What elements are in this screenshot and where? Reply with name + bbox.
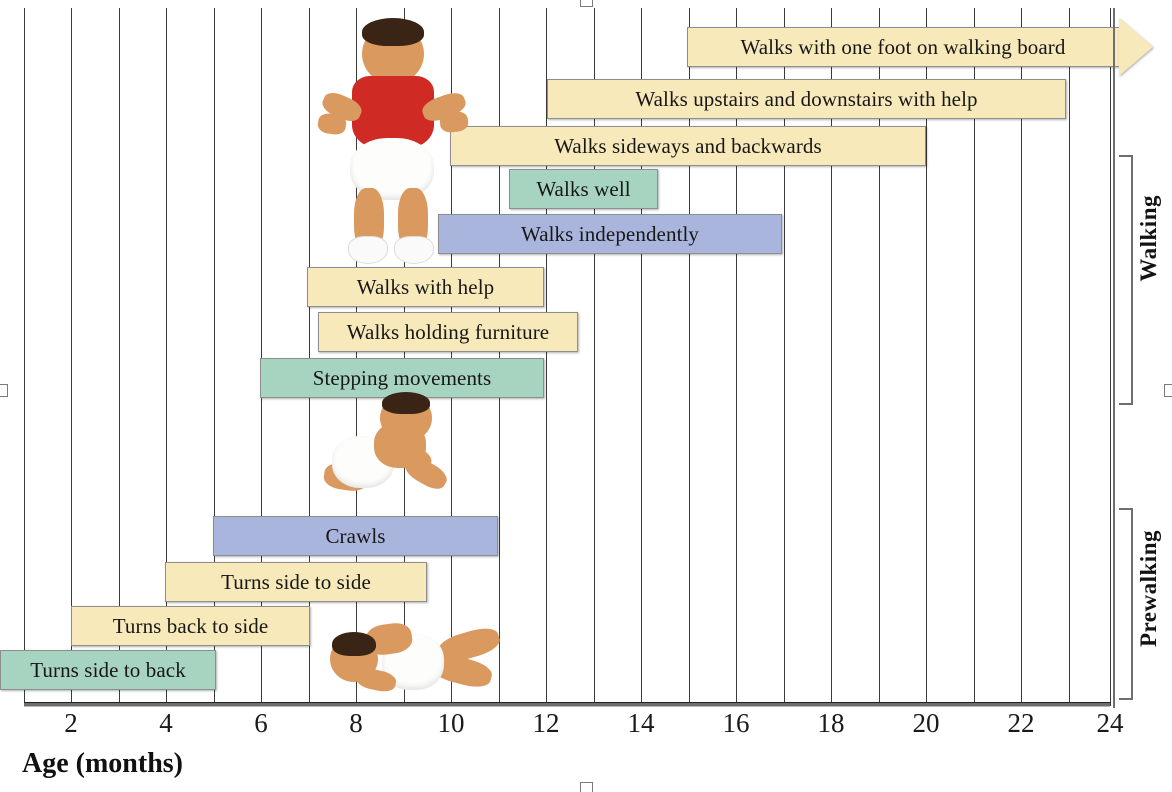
- bar-turns-back-to-side[interactable]: Turns back to side: [71, 606, 310, 646]
- bar-walks-with-help[interactable]: Walks with help: [307, 267, 544, 307]
- x-axis-shadow: [24, 703, 1110, 706]
- gridline: [119, 8, 120, 706]
- x-tick-label: 2: [64, 708, 78, 739]
- bar-walks-upstairs-downstairs[interactable]: Walks upstairs and downstairs with help: [547, 79, 1066, 119]
- bracket-walking: [1119, 155, 1133, 405]
- gridline: [24, 8, 25, 706]
- bracket-label-prewalking: Prewalking: [1136, 530, 1162, 647]
- x-tick-label: 10: [438, 708, 465, 739]
- x-tick-label: 14: [628, 708, 655, 739]
- bracket-label-walking: Walking: [1136, 195, 1162, 282]
- gridline: [451, 8, 452, 706]
- figure-canvas: Turns side to backTurns back to sideTurn…: [0, 0, 1172, 792]
- bar-label: Turns side to side: [221, 570, 371, 595]
- x-tick-label: 8: [349, 708, 363, 739]
- x-tick-label: 18: [818, 708, 845, 739]
- handle-right-middle[interactable]: [1164, 384, 1172, 397]
- x-axis-title: Age (months): [22, 748, 183, 780]
- bar-label: Walks well: [536, 177, 630, 202]
- handle-bottom-center[interactable]: [580, 782, 593, 792]
- gridline: [1110, 8, 1111, 706]
- bar-label: Walks with one foot on walking board: [687, 35, 1153, 60]
- bar-stepping-movements[interactable]: Stepping movements: [260, 358, 544, 398]
- x-tick-label: 20: [913, 708, 940, 739]
- bar-label: Walks sideways and backwards: [554, 134, 822, 159]
- bar-walks-well[interactable]: Walks well: [509, 169, 658, 209]
- bar-label: Walks with help: [357, 275, 494, 300]
- bar-walks-independently[interactable]: Walks independently: [438, 214, 782, 254]
- x-tick-label: 16: [723, 708, 750, 739]
- x-tick-label: 22: [1008, 708, 1035, 739]
- gridline: [1069, 8, 1070, 706]
- bar-turns-side-to-side[interactable]: Turns side to side: [165, 562, 427, 602]
- bar-walks-sideways-backwards[interactable]: Walks sideways and backwards: [450, 126, 926, 166]
- x-tick-label: 12: [533, 708, 560, 739]
- handle-left-middle[interactable]: [0, 384, 8, 397]
- right-frame-line: [1113, 8, 1115, 708]
- x-tick-label: 4: [159, 708, 173, 739]
- bar-turns-side-to-back[interactable]: Turns side to back: [0, 650, 216, 690]
- bar-crawls[interactable]: Crawls: [213, 516, 498, 556]
- gridline: [499, 8, 500, 706]
- bar-label: Walks independently: [521, 222, 699, 247]
- bar-label: Crawls: [325, 524, 385, 549]
- x-tick-label: 24: [1097, 708, 1124, 739]
- x-tick-label: 6: [254, 708, 268, 739]
- handle-top-center[interactable]: [580, 0, 593, 7]
- gridline: [71, 8, 72, 706]
- bar-label: Walks upstairs and downstairs with help: [635, 87, 977, 112]
- bar-label: Turns back to side: [113, 614, 269, 639]
- bracket-prewalking: [1119, 508, 1133, 700]
- bar-label: Stepping movements: [313, 366, 492, 391]
- bar-label: Turns side to back: [30, 658, 186, 683]
- bar-walks-one-foot-board[interactable]: Walks with one foot on walking board: [687, 27, 1153, 67]
- bar-label: Walks holding furniture: [347, 320, 549, 345]
- bar-walks-holding-furniture[interactable]: Walks holding furniture: [318, 312, 578, 352]
